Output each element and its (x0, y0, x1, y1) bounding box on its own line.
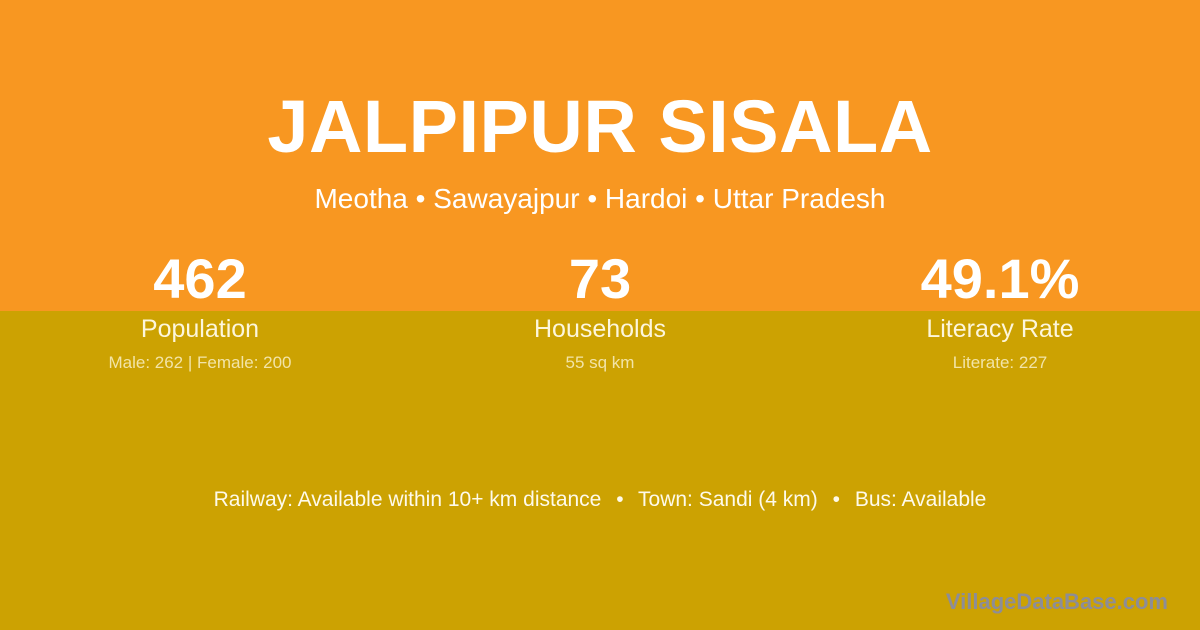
page-title: JALPIPUR SISALA (0, 86, 1200, 168)
site-brand-watermark: VillageDataBase.com (946, 588, 1168, 616)
facility-town: Town: Sandi (4 km) (638, 488, 818, 511)
stat-label-households: Households (400, 314, 800, 344)
village-info-card: JALPIPUR SISALA Meotha • Sawayajpur • Ha… (0, 0, 1200, 630)
facilities-line: Railway: Available within 10+ km distanc… (0, 485, 1200, 515)
stat-label-literacy-rate: Literacy Rate (800, 314, 1200, 344)
statistics-row: 462 Population Male: 262 | Female: 200 7… (0, 248, 1200, 374)
stat-sublabel-population: Male: 262 | Female: 200 (0, 352, 400, 374)
stat-sublabel-households: 55 sq km (400, 352, 800, 374)
location-breadcrumb: Meotha • Sawayajpur • Hardoi • Uttar Pra… (0, 181, 1200, 217)
stat-households: 73 Households 55 sq km (400, 248, 800, 374)
facility-separator-1: • (607, 488, 632, 511)
stat-value-households: 73 (400, 248, 800, 310)
facility-separator-2: • (824, 488, 849, 511)
stat-value-population: 462 (0, 248, 400, 310)
stat-sublabel-literacy-rate: Literate: 227 (800, 352, 1200, 374)
facility-bus: Bus: Available (855, 488, 987, 511)
card-content: JALPIPUR SISALA Meotha • Sawayajpur • Ha… (0, 0, 1200, 630)
stat-population: 462 Population Male: 262 | Female: 200 (0, 248, 400, 374)
facility-railway: Railway: Available within 10+ km distanc… (214, 488, 602, 511)
stat-label-population: Population (0, 314, 400, 344)
stat-literacy-rate: 49.1% Literacy Rate Literate: 227 (800, 248, 1200, 374)
stat-value-literacy-rate: 49.1% (800, 248, 1200, 310)
